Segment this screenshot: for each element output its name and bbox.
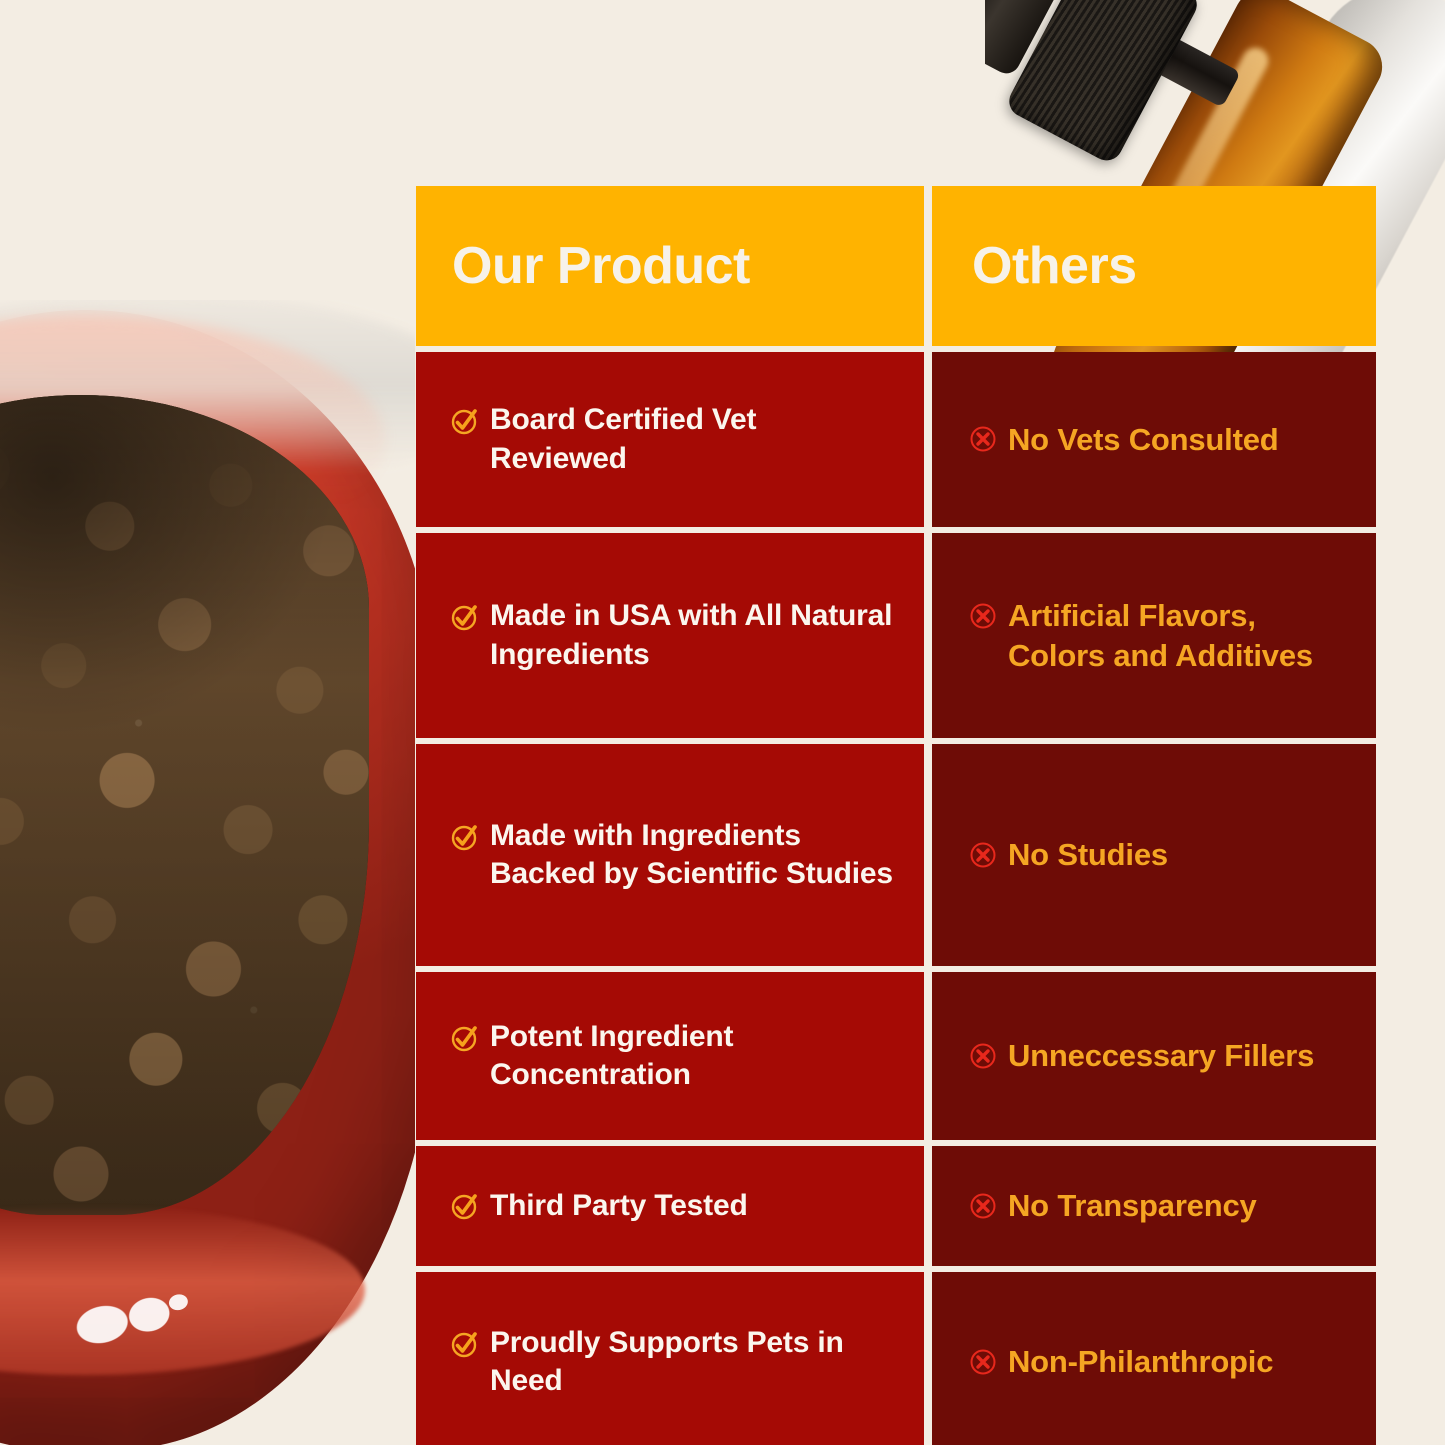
table-row: Made in USA with All Natural Ingredients… [416, 533, 1376, 738]
table-row: Third Party Tested No Transparency [416, 1146, 1376, 1266]
bowl-interior [0, 395, 369, 1215]
kibble-shadow [0, 395, 369, 1215]
our-product-cell-6: Proudly Supports Pets in Need [416, 1272, 924, 1445]
check-circle-icon [450, 822, 480, 852]
check-circle-icon [450, 602, 480, 632]
cross-circle-icon [968, 1041, 998, 1071]
others-cell-3: No Studies [932, 744, 1376, 966]
check-circle-icon [450, 1329, 480, 1359]
others-cell-4: Unneccessary Fillers [932, 972, 1376, 1140]
our-product-cell-4: Potent Ingredient Concentration [416, 972, 924, 1140]
header-cell-others: Others [932, 186, 1376, 346]
others-text-1: No Vets Consulted [1008, 420, 1278, 460]
others-cell-5: No Transparency [932, 1146, 1376, 1266]
our-product-cell-1: Board Certified Vet Reviewed [416, 352, 924, 527]
dog-bowl-photo: Oh Norman! Calm the Down! Balanced Dogs … [0, 300, 415, 1445]
header-label-others: Others [932, 240, 1137, 292]
cross-circle-icon [968, 1191, 998, 1221]
others-cell-1: No Vets Consulted [932, 352, 1376, 527]
cross-circle-icon [968, 1347, 998, 1377]
check-circle-icon [450, 1191, 480, 1221]
table-row: Potent Ingredient Concentration Unnecces… [416, 972, 1376, 1140]
others-cell-6: Non-Philanthropic [932, 1272, 1376, 1445]
table-row: Proudly Supports Pets in Need Non-Philan… [416, 1272, 1376, 1445]
our-product-text-3: Made with Ingredients Backed by Scientif… [490, 817, 898, 894]
others-text-4: Unneccessary Fillers [1008, 1036, 1314, 1076]
cross-circle-icon [968, 424, 998, 454]
our-product-text-6: Proudly Supports Pets in Need [490, 1324, 898, 1401]
our-product-cell-3: Made with Ingredients Backed by Scientif… [416, 744, 924, 966]
others-text-5: No Transparency [1008, 1186, 1257, 1226]
header-label-our-product: Our Product [416, 240, 750, 292]
others-cell-2: Artificial Flavors, Colors and Additives [932, 533, 1376, 738]
header-cell-our-product: Our Product [416, 186, 924, 346]
table-row: Board Certified Vet Reviewed No Vets Con… [416, 352, 1376, 527]
our-product-text-2: Made in USA with All Natural Ingredients [490, 597, 898, 674]
table-header-row: Our Product Others [416, 186, 1376, 346]
others-text-2: Artificial Flavors, Colors and Additives [1008, 596, 1360, 675]
cross-circle-icon [968, 601, 998, 631]
others-text-3: No Studies [1008, 835, 1168, 875]
our-product-text-5: Third Party Tested [490, 1187, 748, 1225]
check-circle-icon [450, 1023, 480, 1053]
our-product-text-1: Board Certified Vet Reviewed [490, 401, 898, 478]
product-comparison-infographic: Oh Norman! Calm the Down! Balanced Dogs … [0, 0, 1445, 1445]
check-circle-icon [450, 406, 480, 436]
cross-circle-icon [968, 840, 998, 870]
table-row: Made with Ingredients Backed by Scientif… [416, 744, 1376, 966]
others-text-6: Non-Philanthropic [1008, 1342, 1273, 1382]
our-product-cell-5: Third Party Tested [416, 1146, 924, 1266]
our-product-text-4: Potent Ingredient Concentration [490, 1018, 898, 1095]
our-product-cell-2: Made in USA with All Natural Ingredients [416, 533, 924, 738]
comparison-table: Our Product Others Board Certified Vet R… [416, 186, 1376, 1445]
